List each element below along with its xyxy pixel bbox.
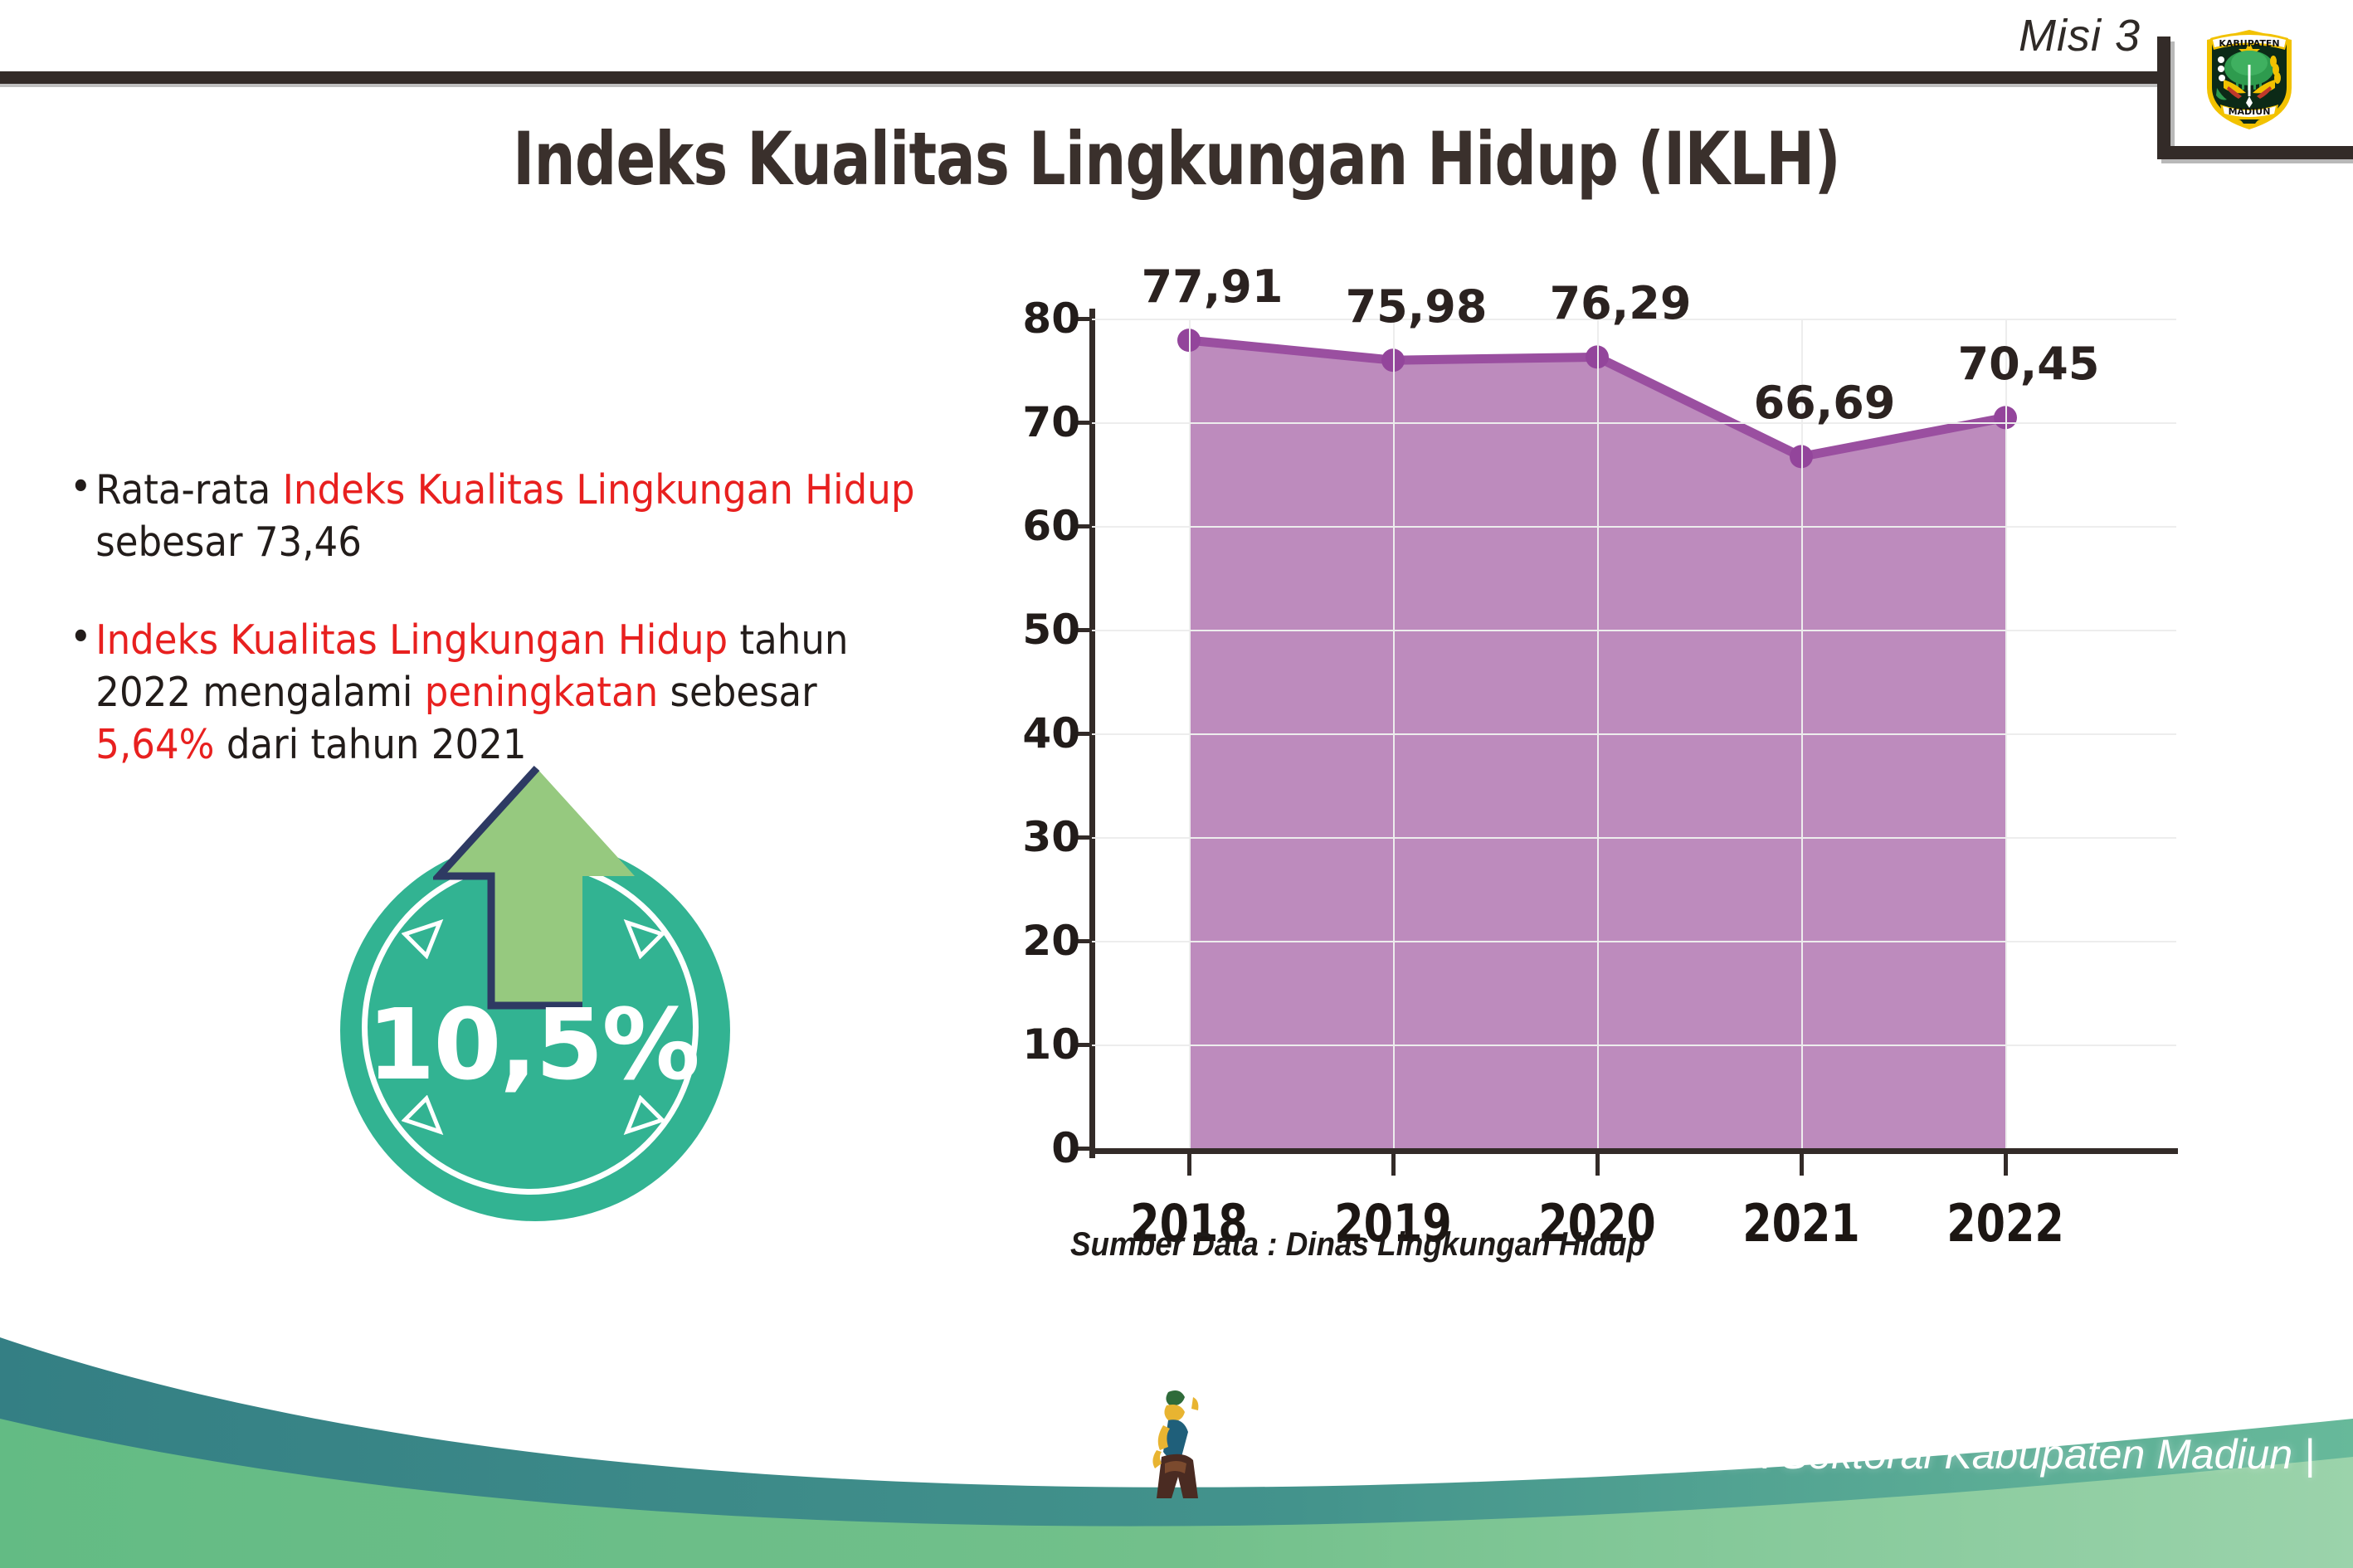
bullet-plain: Rata-rata: [95, 466, 282, 514]
badge-percentage-value: 10,5%: [325, 987, 740, 1102]
bullet-plain: dari tahun 2021: [214, 721, 526, 768]
x-axis-tick: [1595, 1154, 1600, 1176]
x-axis-label: 2021: [1742, 1193, 1860, 1254]
frame-horizontal-bar: [2157, 146, 2353, 159]
gridline-vertical: [1393, 319, 1395, 1148]
bullet-text: Rata-rata Indeks Kualitas Lingkungan Hid…: [95, 466, 914, 566]
data-value-label: 76,29: [1550, 277, 1692, 329]
header-rule: [0, 71, 2167, 84]
data-value-label: 77,91: [1142, 261, 1284, 313]
y-axis-label: 40: [981, 709, 1080, 757]
page-title: Indeks Kualitas Lingkungan Hidup (IKLH): [236, 116, 2118, 202]
gridline-vertical: [1801, 319, 1803, 1148]
bullet-plain: sebesar: [658, 669, 817, 716]
bullet-item: • Indeks Kualitas Lingkungan Hidup tahun…: [70, 615, 917, 771]
x-axis-tick: [1391, 1154, 1396, 1176]
x-axis-tick: [2004, 1154, 2008, 1176]
x-axis-tick: [1187, 1154, 1191, 1176]
y-axis-label: 20: [981, 917, 1080, 965]
kabupaten-madiun-emblem-icon: KABUPATEN MADIUN: [2199, 17, 2300, 133]
bullet-highlight: peningkatan: [425, 669, 658, 716]
y-axis-label: 0: [981, 1124, 1080, 1172]
bullet-highlight: Indeks Kualitas Lingkungan Hidup: [95, 616, 728, 664]
footer-band: Media Infografis Data Statistik Sektoral…: [0, 1294, 2353, 1568]
bullet-text: Indeks Kualitas Lingkungan Hidup tahun 2…: [95, 616, 848, 767]
gridline-vertical: [1597, 319, 1599, 1148]
source-note: Sumber Data : Dinas Lingkungan Hidup: [1070, 1226, 1645, 1264]
increase-badge: 10,5%: [325, 763, 740, 1228]
gridline-horizontal: [1091, 1045, 2176, 1046]
bullet-highlight: 5,64%: [95, 721, 214, 768]
data-value-label: 66,69: [1754, 377, 1896, 429]
y-axis-label: 30: [981, 813, 1080, 861]
mission-label: Misi 3: [2019, 10, 2141, 61]
y-axis-label: 70: [981, 398, 1080, 446]
footer-caption: Media Infografis Data Statistik Sektoral…: [1218, 1430, 2315, 1478]
bullet-dot: •: [70, 461, 92, 514]
gridline-horizontal: [1091, 422, 2176, 424]
logo-top-text: KABUPATEN: [2219, 38, 2279, 49]
y-axis-label: 80: [981, 295, 1080, 343]
data-value-label: 70,45: [1958, 338, 2100, 390]
bullet-highlight: Indeks Kualitas Lingkungan Hidup: [283, 466, 915, 514]
gridline-horizontal: [1091, 733, 2176, 735]
gridline-vertical: [2005, 319, 2007, 1148]
x-axis-tick: [1800, 1154, 1804, 1176]
y-axis-label: 60: [981, 502, 1080, 550]
bullet-plain: sebesar 73,46: [95, 519, 362, 566]
gridline-horizontal: [1091, 630, 2176, 631]
logo-bottom-text: MADIUN: [2229, 106, 2271, 117]
y-axis-label: 50: [981, 606, 1080, 654]
gridline-vertical: [1189, 319, 1191, 1148]
up-arrow-icon: [433, 763, 641, 1012]
dancer-mascot-icon: [1143, 1384, 1218, 1508]
bullet-dot: •: [70, 611, 92, 664]
gridline-horizontal: [1091, 941, 2176, 942]
gridline-horizontal: [1091, 837, 2176, 839]
iklh-area-chart: 01020304050607080 20182019202020212022 7…: [987, 299, 2248, 1278]
x-axis-label: 2022: [1946, 1193, 2064, 1254]
bullet-item: • Rata-rata Indeks Kualitas Lingkungan H…: [70, 465, 917, 568]
x-axis-line: [1089, 1148, 2178, 1154]
frame-vertical-bar: [2157, 37, 2170, 159]
infographic-page: Misi 3: [0, 0, 2353, 1568]
gridline-horizontal: [1091, 526, 2176, 528]
data-value-label: 75,98: [1346, 280, 1488, 333]
y-axis-label: 10: [981, 1020, 1080, 1069]
